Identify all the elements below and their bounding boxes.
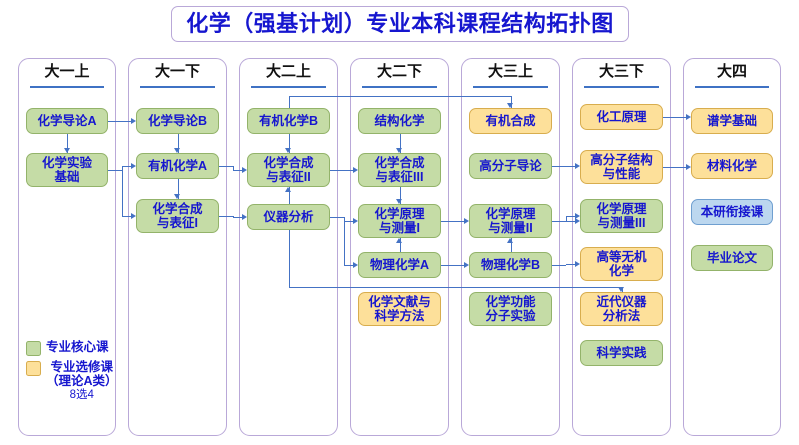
course-name-line1: 化学功能 — [485, 295, 535, 309]
connector-arrowhead — [285, 148, 291, 153]
connector-segment — [122, 166, 131, 167]
term-column-header-5: 大三上 — [462, 63, 559, 81]
connector-arrowhead — [174, 148, 180, 153]
connector-segment — [344, 217, 345, 265]
course-box[interactable]: 高分子导论 — [469, 153, 552, 179]
connector-arrowhead — [686, 114, 691, 120]
connector-arrowhead — [353, 262, 358, 268]
course-name-line1: 化学文献与 — [368, 295, 431, 309]
course-name-line1: 化学实验 — [42, 156, 92, 170]
term-column-header-6: 大三下 — [573, 63, 670, 81]
course-name-line1: 化学合成 — [152, 202, 202, 216]
curriculum-topology-diagram: 化学（强基计划）专业本科课程结构拓扑图 大一上化学导论A化学实验基础大一下化学导… — [0, 0, 799, 445]
course-name-line1: 化学合成 — [263, 156, 313, 170]
connector-arrowhead — [464, 262, 469, 268]
connector-arrowhead — [242, 167, 247, 173]
course-box[interactable]: 化学导论A — [26, 108, 108, 134]
course-name-line1: 高分子结构 — [590, 153, 653, 167]
course-box[interactable]: 化学实验基础 — [26, 153, 108, 187]
connector-segment — [289, 230, 290, 287]
term-column-header-2: 大一下 — [129, 63, 226, 81]
course-box[interactable]: 化学原理与测量II — [469, 204, 552, 238]
course-name-line2: 与性能 — [590, 167, 653, 181]
course-box[interactable]: 高分子结构与性能 — [580, 150, 663, 184]
connector-segment — [122, 216, 131, 217]
term-column-rule — [362, 86, 438, 88]
connector-arrowhead — [396, 148, 402, 153]
connector-segment — [289, 96, 290, 108]
term-column-header-1: 大一上 — [19, 63, 115, 81]
course-name-line1: 毕业论文 — [707, 251, 757, 265]
course-name-line2: 科学方法 — [368, 309, 431, 323]
connector-segment — [566, 216, 575, 217]
legend-label-elective-line2: （理论A类） — [46, 374, 118, 388]
course-name-line2: 与测量II — [485, 221, 535, 235]
connector-segment — [663, 167, 686, 168]
course-box[interactable]: 有机化学A — [136, 153, 219, 179]
term-column-header-7: 大四 — [684, 63, 780, 81]
legend-swatch-core-icon — [26, 341, 41, 356]
course-box[interactable]: 化学合成与表征I — [136, 199, 219, 233]
connector-segment — [552, 221, 566, 222]
course-name-line1: 本研衔接课 — [701, 205, 764, 219]
course-name-line1: 近代仪器 — [596, 295, 646, 309]
course-box[interactable]: 有机合成 — [469, 108, 552, 134]
course-box[interactable]: 化学原理与测量III — [580, 199, 663, 233]
legend-item-elective: 专业选修课 （理论A类） 8选4 — [26, 360, 130, 402]
connector-arrowhead — [396, 199, 402, 204]
course-name-line1: 化学导论B — [148, 114, 207, 128]
course-box[interactable]: 毕业论文 — [691, 245, 773, 271]
term-column-header-3: 大二上 — [240, 63, 337, 81]
connector-arrowhead — [131, 163, 136, 169]
connector-arrowhead — [285, 187, 291, 192]
course-box[interactable]: 材料化学 — [691, 153, 773, 179]
course-name-line2: 分子实验 — [485, 309, 535, 323]
course-name-line2: 基础 — [42, 170, 92, 184]
course-name-line1: 化学导论A — [37, 114, 96, 128]
connector-arrowhead — [64, 148, 70, 153]
connector-segment — [441, 265, 464, 266]
legend-item-core: 专业核心课 — [26, 340, 130, 356]
connector-segment — [122, 170, 123, 216]
connector-segment — [219, 166, 233, 167]
course-box[interactable]: 化工原理 — [580, 104, 663, 130]
course-name-line2: 与表征I — [152, 216, 202, 230]
course-box[interactable]: 物理化学A — [358, 252, 441, 278]
term-column-rule — [140, 86, 216, 88]
course-name-line1: 化学合成 — [374, 156, 424, 170]
course-box[interactable]: 谱学基础 — [691, 108, 773, 134]
connector-arrowhead — [507, 103, 513, 108]
legend-label-elective-line3: 8选4 — [46, 388, 118, 402]
course-box[interactable]: 化学导论B — [136, 108, 219, 134]
legend-label-core: 专业核心课 — [46, 340, 109, 354]
term-column-rule — [695, 86, 770, 88]
course-box[interactable]: 科学实践 — [580, 340, 663, 366]
connector-arrowhead — [353, 218, 358, 224]
course-name-line1: 物理化学A — [370, 258, 429, 272]
course-name-line1: 化工原理 — [596, 110, 646, 124]
legend-label-elective: 专业选修课 （理论A类） 8选4 — [46, 360, 118, 402]
connector-segment — [330, 217, 344, 218]
connector-segment — [233, 217, 242, 218]
legend-swatch-elective-icon — [26, 361, 41, 376]
course-name-line1: 有机合成 — [485, 114, 535, 128]
course-box[interactable]: 高等无机化学 — [580, 247, 663, 281]
course-name-line1: 化学原理 — [596, 202, 646, 216]
course-name-line1: 仪器分析 — [263, 210, 313, 224]
connector-arrowhead — [575, 163, 580, 169]
course-name-line1: 谱学基础 — [707, 114, 757, 128]
course-box[interactable]: 化学原理与测量I — [358, 204, 441, 238]
term-column-header-4: 大二下 — [351, 63, 448, 81]
course-box[interactable]: 物理化学B — [469, 252, 552, 278]
course-name-line1: 有机化学B — [259, 114, 318, 128]
connector-segment — [663, 117, 686, 118]
course-name-line1: 化学原理 — [374, 207, 424, 221]
term-column-rule — [251, 86, 327, 88]
connector-segment — [108, 121, 131, 122]
course-name-line2: 化学 — [596, 264, 646, 278]
course-box[interactable]: 化学文献与科学方法 — [358, 292, 441, 326]
course-box[interactable]: 化学合成与表征III — [358, 153, 441, 187]
course-box[interactable]: 有机化学B — [247, 108, 330, 134]
connector-arrowhead — [242, 214, 247, 220]
connector-segment — [289, 287, 622, 288]
connector-arrowhead — [618, 287, 624, 292]
connector-arrowhead — [575, 213, 580, 219]
course-name-line1: 物理化学B — [481, 258, 540, 272]
connector-arrowhead — [396, 238, 402, 243]
term-column-rule — [473, 86, 549, 88]
connector-segment — [566, 264, 575, 265]
term-column-rule — [584, 86, 660, 88]
connector-segment — [219, 216, 233, 217]
connector-segment — [344, 265, 353, 266]
course-name-line1: 高等无机 — [596, 250, 646, 264]
course-box[interactable]: 化学功能分子实验 — [469, 292, 552, 326]
course-name-line1: 化学原理 — [485, 207, 535, 221]
course-name-line1: 材料化学 — [707, 159, 757, 173]
course-name-line2: 与表征III — [374, 170, 424, 184]
term-column-rule — [30, 86, 105, 88]
connector-arrowhead — [464, 218, 469, 224]
page-title-text: 化学（强基计划）专业本科课程结构拓扑图 — [186, 13, 614, 35]
connector-segment — [441, 221, 464, 222]
course-box[interactable]: 化学合成与表征II — [247, 153, 330, 187]
course-name-line1: 高分子导论 — [479, 159, 542, 173]
connector-segment — [330, 170, 353, 171]
connector-arrowhead — [131, 213, 136, 219]
course-name-line1: 科学实践 — [596, 346, 646, 360]
connector-arrowhead — [174, 194, 180, 199]
connector-arrowhead — [507, 238, 513, 243]
course-box[interactable]: 结构化学 — [358, 108, 441, 134]
course-box[interactable]: 近代仪器分析法 — [580, 292, 663, 326]
connector-segment — [108, 170, 122, 171]
connector-segment — [289, 96, 511, 97]
connector-segment — [552, 265, 566, 266]
connector-arrowhead — [575, 261, 580, 267]
course-box[interactable]: 本研衔接课 — [691, 199, 773, 225]
course-name-line2: 分析法 — [596, 309, 646, 323]
course-name-line2: 与表征II — [263, 170, 313, 184]
connector-arrowhead — [353, 167, 358, 173]
page-title: 化学（强基计划）专业本科课程结构拓扑图 — [171, 6, 629, 42]
connector-arrowhead — [686, 164, 691, 170]
legend-label-elective-line1: 专业选修课 — [51, 360, 114, 374]
connector-arrowhead — [131, 118, 136, 124]
course-box[interactable]: 仪器分析 — [247, 204, 330, 230]
course-name-line1: 结构化学 — [374, 114, 424, 128]
course-name-line2: 与测量I — [374, 221, 424, 235]
connector-segment — [552, 166, 575, 167]
course-name-line1: 有机化学A — [148, 159, 207, 173]
course-name-line2: 与测量III — [596, 216, 646, 230]
legend: 专业核心课 专业选修课 （理论A类） 8选4 — [26, 340, 130, 406]
connector-segment — [233, 170, 242, 171]
